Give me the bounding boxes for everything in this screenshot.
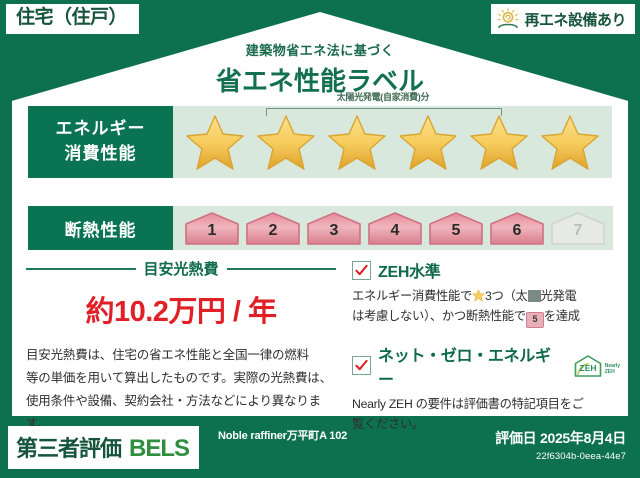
insulation-level-1: 1 [183, 211, 241, 245]
evaluation-id: 22f6304b-0eea-44e7 [495, 451, 626, 462]
insulation-level-5: 5 [427, 211, 485, 245]
category-chip: 住宅（住戸） [6, 4, 139, 34]
utility-cost-heading-text: 目安光熱費 [144, 258, 219, 279]
net-zero-title: ネット・ゼロ・エネルギー [378, 342, 563, 390]
zeh-desc-part-c: 光発電 [541, 289, 577, 303]
utility-cost-heading: 目安光熱費 [26, 258, 336, 279]
insulation-level-7: 7 [549, 211, 607, 245]
checkmark-icon-net-zero [352, 356, 371, 375]
insulation-level-6: 6 [488, 211, 546, 245]
insulation-level-2: 2 [244, 211, 302, 245]
star-filled-5 [469, 113, 529, 171]
bels-logo-text: BELS [129, 435, 189, 463]
insulation-level-5-value: 5 [452, 222, 461, 245]
utility-cost-amount: 約10.2万円 / 年 [26, 288, 336, 330]
achievement-zeh-standard: ZEH水準 エネルギー消費性能で3つ（太光発電 は考慮しない）、かつ断熱性能で5… [352, 258, 620, 328]
star-filled-3 [327, 113, 387, 171]
zeh-desc-part-a: エネルギー消費性能で [352, 289, 472, 303]
insulation-levels-container: 1 2 3 4 5 6 7 [173, 206, 613, 250]
insulation-level-4-value: 4 [391, 222, 400, 245]
zeh-nearly-logo-icon: ZEH Nearly ZEH [573, 354, 620, 378]
energy-performance-label: 住宅（住戸） 再エネ設備あり 建築物省エネ法に基づく [0, 0, 640, 478]
star-filled-1 [185, 113, 245, 171]
redaction-block [528, 290, 541, 302]
zeh-standard-heading: ZEH水準 [352, 258, 620, 282]
cost-rule-left [26, 268, 136, 270]
net-zero-heading: ネット・ゼロ・エネルギー ZEH Nearly ZEH [352, 342, 620, 390]
inline-insulation-level-icon: 5 [526, 312, 544, 328]
sun-renewable-icon [496, 7, 520, 31]
star-filled-6 [540, 113, 600, 171]
utility-cost-block: 目安光熱費 約10.2万円 / 年 目安光熱費は、住宅の省エネ性能と全国一律の燃… [26, 258, 336, 437]
cost-rule-right [227, 268, 337, 270]
insulation-level-2-value: 2 [269, 222, 278, 245]
checkmark-icon-zeh-standard [352, 261, 371, 280]
energy-performance-row: エネルギー 消費性能 [28, 106, 612, 178]
zeh-logo-caption: Nearly ZEH [605, 364, 620, 378]
insulation-label-text: 断熱性能 [65, 216, 137, 241]
renewable-equipment-chip: 再エネ設備あり [491, 4, 635, 34]
title-subtitle: 建築物省エネ法に基づく [0, 40, 640, 59]
svg-text:ZEH: ZEH [579, 363, 596, 373]
zeh-standard-title: ZEH水準 [378, 258, 441, 282]
energy-label-line1: エネルギー [56, 117, 146, 142]
building-name: Noble raffiner万平町A 102 [218, 429, 408, 444]
insulation-level-6-value: 6 [513, 222, 522, 245]
renewable-chip-label: 再エネ設備あり [524, 9, 626, 30]
insulation-level-7-value: 7 [574, 222, 583, 245]
label-title-block: 建築物省エネ法に基づく 省エネ性能ラベル [0, 40, 640, 98]
zeh-desc-part-d: は考慮しない）、かつ断熱性能で [352, 309, 526, 323]
insulation-level-4: 4 [366, 211, 424, 245]
insulation-level-3: 3 [305, 211, 363, 245]
insulation-level-1-value: 1 [208, 222, 217, 245]
cost-note-line-1: 目安光熱費は、住宅の省エネ性能と全国一律の燃料 [26, 344, 336, 367]
zeh-desc-part-e: を達成 [544, 309, 580, 323]
star-filled-2 [256, 113, 316, 171]
evaluation-info: 評価日 2025年8月4日 22f6304b-0eea-44e7 [495, 428, 626, 462]
bels-certification-chip: 第三者評価 BELS [8, 426, 199, 469]
cost-note-line-2: 等の単価を用いて算出したものです。実際の光熱費は、 [26, 367, 336, 390]
insulation-level-3-value: 3 [330, 222, 339, 245]
evaluation-date: 評価日 2025年8月4日 [495, 428, 626, 448]
zeh-standard-description: エネルギー消費性能で3つ（太光発電 は考慮しない）、かつ断熱性能で5を達成 [352, 287, 620, 328]
zeh-caption-line2: ZEH [605, 369, 615, 375]
energy-performance-label-box: エネルギー 消費性能 [28, 106, 173, 178]
insulation-performance-row: 断熱性能 1 2 3 4 5 [28, 206, 612, 250]
insulation-performance-label-box: 断熱性能 [28, 206, 173, 250]
category-chip-label: 住宅（住戸） [16, 7, 127, 28]
energy-stars-container [173, 106, 612, 178]
footer-bar: 第三者評価 BELS Noble raffiner万平町A 102 評価日 20… [0, 418, 640, 478]
star-filled-4 [398, 113, 458, 171]
bels-japanese-label: 第三者評価 [16, 431, 121, 463]
inline-star-icon [472, 289, 485, 302]
zeh-desc-part-b: 3つ（太 [485, 289, 528, 303]
title-main: 省エネ性能ラベル [0, 61, 640, 98]
energy-label-line2: 消費性能 [65, 142, 137, 167]
net-zero-desc-line-1: Nearly ZEH の要件は評価書の特記項目をご [352, 395, 620, 415]
